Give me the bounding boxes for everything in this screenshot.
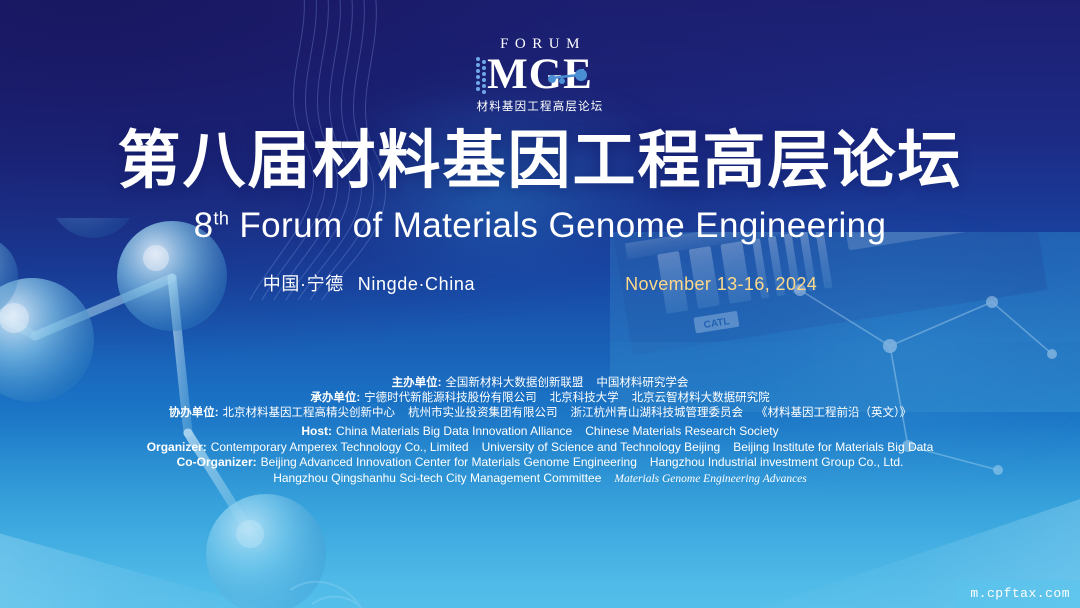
host-english-item-0: China Materials Big Data Innovation Alli… xyxy=(336,424,572,438)
event-date: November 13-16, 2024 xyxy=(625,274,817,295)
organizer-chinese-item-0: 宁德时代新能源科技股份有限公司 xyxy=(364,392,537,404)
organizer-chinese-item-2: 北京云智材料大数据研究院 xyxy=(632,392,770,404)
coorganizer-english-item-0: Beijing Advanced Innovation Center for M… xyxy=(261,455,637,469)
coorganizer-english-label: Co-Organizer: xyxy=(177,455,257,469)
host-chinese-label: 主办单位: xyxy=(392,377,442,389)
logo-chinese-subtitle: 材料基因工程高层论坛 xyxy=(477,98,604,114)
event-location: 中国·宁德Ningde·China xyxy=(263,270,475,296)
host-english-line: Host:China Materials Big Data Innovation… xyxy=(0,424,1080,440)
watermark-url: m.cpftax.com xyxy=(956,580,1080,608)
coorganizer-chinese-item-3: 《材料基因工程前沿（英文）》 xyxy=(756,407,911,419)
dna-helix-icon xyxy=(474,56,488,96)
title-english-rest: Forum of Materials Genome Engineering xyxy=(239,206,886,245)
host-english-item-1: Chinese Materials Research Society xyxy=(585,424,778,438)
coorganizer-english-line-2: Hangzhou Qingshanhu Sci-tech City Manage… xyxy=(0,471,1080,488)
forum-logo: FORUM MGE xyxy=(0,36,1080,114)
event-location-chinese: 中国·宁德 xyxy=(263,274,344,294)
organizer-chinese-item-1: 北京科技大学 xyxy=(550,392,619,404)
organizer-chinese-line: 承办单位:宁德时代新能源科技股份有限公司北京科技大学北京云智材料大数据研究院 xyxy=(0,391,1080,406)
atom-bond-icon xyxy=(545,66,591,88)
event-meta-row: 中国·宁德Ningde·China November 13-16, 2024 xyxy=(0,270,1080,296)
host-chinese-line: 主办单位:全国新材料大数据创新联盟中国材料研究学会 xyxy=(0,376,1080,391)
coorganizer-chinese-item-1: 杭州市实业投资集团有限公司 xyxy=(408,407,558,419)
organizer-english-item-0: Contemporary Amperex Technology Co., Lim… xyxy=(211,440,469,454)
journal-title-italic: Materials Genome Engineering Advances xyxy=(614,473,806,485)
page-title-english: 8th Forum of Materials Genome Engineerin… xyxy=(0,206,1080,246)
logo-acronym-wrap: MGE xyxy=(487,54,593,95)
organizer-english-label: Organizer: xyxy=(147,440,207,454)
organizer-english-item-1: University of Science and Technology Bei… xyxy=(482,440,721,454)
coorganizer-chinese-item-0: 北京材料基因工程高精尖创新中心 xyxy=(223,407,396,419)
page-title-chinese: 第八届材料基因工程高层论坛 xyxy=(0,128,1080,194)
organizer-english-line: Organizer:Contemporary Amperex Technolog… xyxy=(0,440,1080,456)
organizer-chinese-label: 承办单位: xyxy=(310,392,360,404)
organizers-block: 主办单位:全国新材料大数据创新联盟中国材料研究学会 承办单位:宁德时代新能源科技… xyxy=(0,376,1080,487)
host-chinese-item-1: 中国材料研究学会 xyxy=(596,377,688,389)
coorganizer-chinese-item-2: 浙江杭州青山湖科技城管理委员会 xyxy=(571,407,744,419)
title-ordinal-suffix: th xyxy=(213,208,229,228)
event-location-english: Ningde·China xyxy=(358,274,475,294)
coorganizer-english-item-1: Hangzhou Industrial investment Group Co.… xyxy=(650,455,903,469)
coorganizer-chinese-line: 协办单位:北京材料基因工程高精尖创新中心杭州市实业投资集团有限公司浙江杭州青山湖… xyxy=(0,406,1080,421)
coorganizer-chinese-label: 协办单位: xyxy=(169,407,219,419)
organizer-english-item-2: Beijing Institute for Materials Big Data xyxy=(733,440,933,454)
host-english-label: Host: xyxy=(301,424,332,438)
title-ordinal-number: 8 xyxy=(194,206,214,245)
coorganizer-english-line: Co-Organizer:Beijing Advanced Innovation… xyxy=(0,455,1080,471)
host-chinese-item-0: 全国新材料大数据创新联盟 xyxy=(445,377,583,389)
coorganizer-english-item-2: Hangzhou Qingshanhu Sci-tech City Manage… xyxy=(273,471,601,485)
conference-poster: CATL CATL xyxy=(0,0,1080,608)
